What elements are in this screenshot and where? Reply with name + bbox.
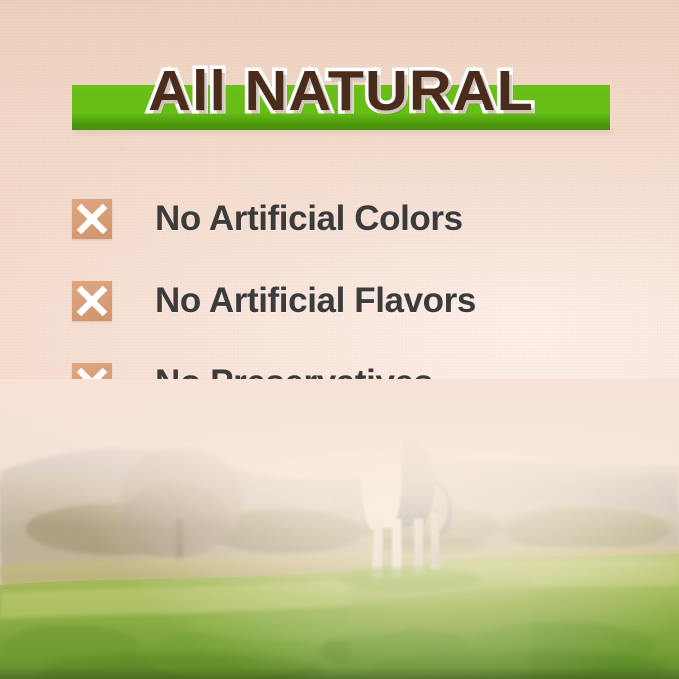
border-collie-in-field-photo	[0, 379, 679, 679]
x-mark-icon	[72, 281, 112, 321]
claim-label: No Artificial Colors	[155, 199, 463, 239]
all-natural-poster: All NATURAL No Artificial Colors	[0, 0, 679, 679]
header-banner: All NATURAL	[72, 52, 610, 130]
x-mark-icon	[72, 199, 112, 239]
claim-label: No Artificial Flavors	[155, 281, 476, 321]
claim-row: No Artificial Colors	[72, 178, 612, 260]
page-title: All NATURAL	[61, 52, 621, 130]
claim-row: No Artificial Flavors	[72, 260, 612, 342]
